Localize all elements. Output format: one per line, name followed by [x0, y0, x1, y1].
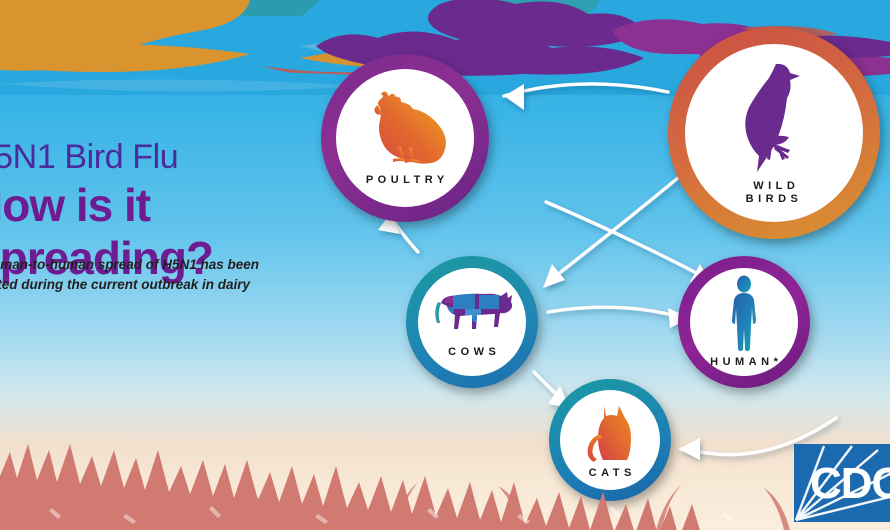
node-wild-birds[interactable]: WILD BIRDS [668, 27, 880, 239]
disclaimer-note: No human-to-human spread of H5N1 has bee… [0, 255, 262, 314]
cdc-logo[interactable]: CDC [794, 444, 890, 522]
page-eyebrow: H5N1 Bird Flu [0, 140, 300, 176]
node-label-birds: BIRDS [746, 193, 803, 205]
node-label-wild: WILD [753, 180, 799, 192]
grass-band [0, 410, 890, 530]
node-label-human: HUMAN* [706, 356, 783, 369]
node-poultry[interactable]: POULTRY [321, 54, 489, 222]
cdc-logo-text: CDC [810, 459, 890, 508]
node-label-cows: COWS [444, 346, 501, 359]
bird-icon [722, 60, 826, 177]
node-human[interactable]: HUMAN* [678, 256, 810, 388]
cow-icon [431, 285, 513, 346]
chicken-icon [357, 89, 453, 172]
person-icon [722, 275, 766, 356]
page-title-line1: How is it [0, 182, 300, 229]
node-label-poultry: POULTRY [361, 174, 448, 187]
node-cows[interactable]: COWS [406, 256, 538, 388]
node-label-wild-birds: WILD BIRDS [746, 180, 803, 206]
infographic-poster: H5N1 Bird Flu How is it Spreading? No hu… [0, 0, 890, 530]
